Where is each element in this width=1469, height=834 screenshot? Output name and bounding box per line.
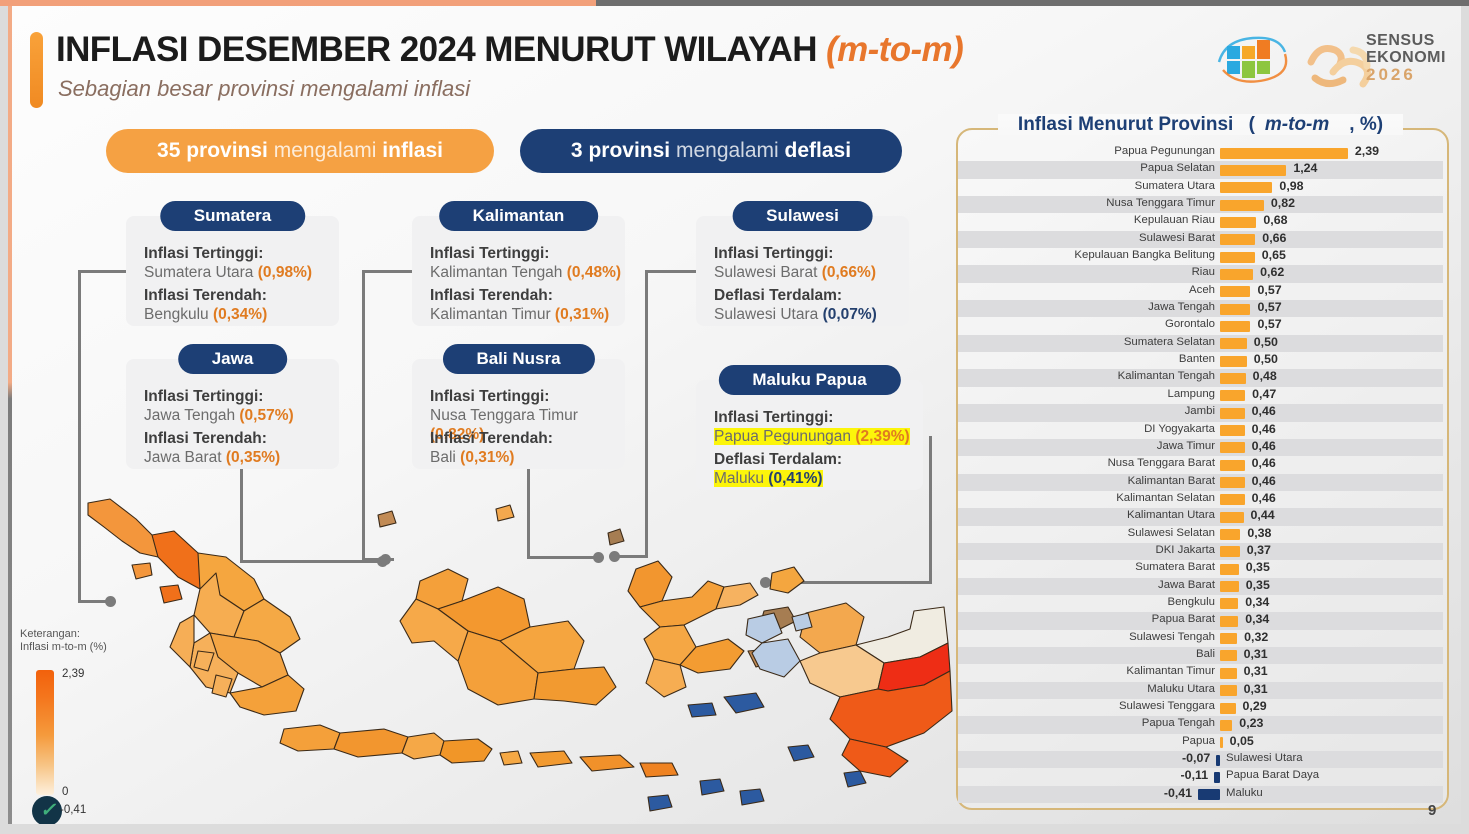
map-artwork (48, 461, 953, 821)
chart-row: Kalimantan Timur0,31 (958, 664, 1443, 681)
sulawesi-bottom-label: Deflasi Terdalam: (714, 286, 877, 305)
chart-bar-positive (1220, 581, 1239, 592)
deflasi-dim: mengalami (676, 139, 785, 162)
chart-row: Kalimantan Utara0,44 (958, 508, 1443, 525)
chart-value-label: 0,29 (1243, 699, 1267, 713)
sumatera-bottom-value: (0,34%) (213, 306, 267, 323)
region-card-bali-nusra: Bali Nusra Inflasi Tertinggi: Nusa Tengg… (412, 359, 625, 469)
chart-value-label: 0,38 (1247, 526, 1271, 540)
chart-category-label: Nusa Tenggara Timur (1106, 197, 1215, 209)
badge-provinsi-deflasi: 3 provinsi mengalami deflasi (520, 129, 902, 173)
deflasi-end: deflasi (785, 139, 852, 162)
chart-bar-positive (1220, 650, 1237, 661)
chart-category-label: Sulawesi Barat (1139, 232, 1215, 244)
chart-row: Sumatera Utara0,98 (958, 179, 1443, 196)
sulawesi-top-value: (0,66%) (822, 264, 876, 281)
chart-row: Kalimantan Barat0,46 (958, 474, 1443, 491)
sumatera-top-value: (0,98%) (258, 264, 312, 281)
legend-caption-line1: Keterangan: (20, 628, 140, 641)
page-title: INFLASI DESEMBER 2024 MENURUT WILAYAH (m… (56, 30, 956, 70)
chart-value-label: 0,65 (1262, 248, 1286, 262)
chart-category-label: Papua Tengah (1142, 717, 1215, 729)
region-title-jawa: Jawa (178, 344, 288, 374)
chart-value-label: 0,47 (1252, 387, 1276, 401)
region-card-sumatera: Sumatera Inflasi Tertinggi: Sumatera Uta… (126, 216, 339, 326)
chart-category-label: Sumatera Barat (1135, 561, 1215, 573)
chart-value-label: 0,57 (1257, 317, 1281, 331)
chart-category-label: Gorontalo (1165, 318, 1215, 330)
chart-value-label: 0,46 (1252, 474, 1276, 488)
chart-bar-positive (1220, 633, 1237, 644)
chart-value-label: 0,34 (1245, 595, 1269, 609)
chart-category-label: Sulawesi Tenggara (1119, 700, 1215, 712)
chart-row: DI Yogyakarta0,46 (958, 422, 1443, 439)
chart-value-label: 0,48 (1253, 369, 1277, 383)
chart-bar-positive (1220, 564, 1239, 575)
logo-line-2: EKONOMI (1366, 49, 1446, 66)
chart-value-label: 0,31 (1244, 682, 1268, 696)
kalimantan-bottom-label: Inflasi Terendah: (430, 286, 609, 305)
chart-row: Nusa Tenggara Timur0,82 (958, 196, 1443, 213)
chart-value-label: 1,24 (1293, 161, 1317, 175)
balinusra-top-label: Inflasi Tertinggi: (430, 387, 625, 406)
chart-category-label: DKI Jakarta (1155, 544, 1215, 556)
chart-value-label: 0,46 (1252, 491, 1276, 505)
region-title-malukupapua: Maluku Papua (718, 365, 900, 395)
chart-category-label: Papua Barat (1152, 613, 1215, 625)
chart-bar-positive (1220, 720, 1232, 731)
legend-zero-value: 0 (62, 786, 68, 798)
chart-value-label: 2,39 (1355, 144, 1379, 158)
inflasi-end: inflasi (382, 139, 443, 162)
chart-row: Kalimantan Tengah0,48 (958, 369, 1443, 386)
chart-bar-positive (1220, 737, 1223, 748)
chart-bar-positive (1220, 390, 1245, 401)
chart-row: Sumatera Barat0,35 (958, 560, 1443, 577)
chart-category-label: DI Yogyakarta (1144, 423, 1215, 435)
chart-bar-positive (1220, 460, 1245, 471)
jawa-bottom-label: Inflasi Terendah: (144, 429, 280, 448)
chart-bar-positive (1220, 494, 1245, 505)
chart-value-label: -0,41 (1144, 786, 1192, 800)
title-accent-bar (30, 32, 43, 108)
chart-value-label: 0,46 (1252, 439, 1276, 453)
region-card-sulawesi: Sulawesi Inflasi Tertinggi: Sulawesi Bar… (696, 216, 909, 326)
chart-value-label: 0,31 (1244, 647, 1268, 661)
chart-value-label: -0,07 (1162, 751, 1210, 765)
region-title-balinusra: Bali Nusra (442, 344, 594, 374)
chart-category-label: Bengkulu (1168, 596, 1216, 608)
connector-kalimantan-h1 (362, 270, 412, 273)
chart-category-label: Nusa Tenggara Barat (1108, 457, 1215, 469)
badge-provinsi-inflasi: 35 provinsi mengalami inflasi (106, 129, 494, 173)
chart-row: Bengkulu0,34 (958, 595, 1443, 612)
region-title-sulawesi: Sulawesi (732, 201, 873, 231)
chart-value-label: 0,66 (1262, 231, 1286, 245)
chart-bar-positive (1220, 425, 1245, 436)
chart-row: Bali0,31 (958, 647, 1443, 664)
chart-bar-positive (1220, 685, 1237, 696)
sumatera-top-label: Inflasi Tertinggi: (144, 244, 312, 263)
jawa-top-value: (0,57%) (239, 407, 293, 424)
chart-row: Jambi0,46 (958, 404, 1443, 421)
chart-row: Sulawesi Barat0,66 (958, 231, 1443, 248)
chart-bar-positive (1220, 165, 1286, 176)
chart-category-label: Maluku Utara (1147, 683, 1215, 695)
connector-sulawesi-h1 (645, 270, 696, 273)
chart-value-label: 0,37 (1247, 543, 1271, 557)
kalimantan-top-value: (0,48%) (567, 264, 621, 281)
chart-category-label: Jambi (1185, 405, 1215, 417)
chart-value-label: 0,46 (1252, 456, 1276, 470)
chart-category-label: Maluku (1226, 787, 1263, 799)
chart-category-label: Jawa Timur (1157, 440, 1215, 452)
sumatera-bottom-label: Inflasi Terendah: (144, 286, 267, 305)
chart-bar-positive (1220, 304, 1250, 315)
chart-row: Lampung0,47 (958, 387, 1443, 404)
sulawesi-top-label: Inflasi Tertinggi: (714, 244, 876, 263)
chart-row: Papua0,05 (958, 734, 1443, 751)
slide-canvas: INFLASI DESEMBER 2024 MENURUT WILAYAH (m… (8, 6, 1461, 824)
chart-category-label: Kalimantan Selatan (1116, 492, 1215, 504)
chart-bar-positive (1220, 148, 1348, 159)
logo-line-1: SENSUS (1366, 32, 1446, 49)
legend-max-value: 2,39 (62, 668, 84, 680)
chart-category-label: Sumatera Selatan (1124, 336, 1215, 348)
chart-category-label: Papua Pegunungan (1114, 145, 1215, 157)
chart-row: Sumatera Selatan0,50 (958, 335, 1443, 352)
chart-row: Aceh0,57 (958, 283, 1443, 300)
slide-left-edge (8, 6, 12, 824)
deflasi-mid: provinsi (583, 139, 676, 162)
chart-rows: Papua Pegunungan2,39Papua Selatan1,24Sum… (958, 144, 1443, 803)
chart-category-label: Sulawesi Selatan (1128, 527, 1215, 539)
chart-bar-positive (1220, 373, 1246, 384)
inflasi-count: 35 (157, 139, 180, 162)
chart-category-label: Kalimantan Timur (1126, 665, 1215, 677)
legend-caption-line2: Inflasi m-to-m (%) (20, 641, 140, 654)
legend-min-value: -0,41 (60, 804, 86, 816)
jawa-top-label: Inflasi Tertinggi: (144, 387, 294, 406)
chart-bar-negative (1216, 755, 1220, 766)
chart-value-label: -0,11 (1160, 768, 1208, 782)
chart-value-label: 0,35 (1246, 560, 1270, 574)
chart-category-label: Sumatera Utara (1135, 180, 1215, 192)
chart-row: Kepulauan Riau0,68 (958, 213, 1443, 230)
chart-bar-positive (1220, 286, 1250, 297)
chart-bar-positive (1220, 269, 1253, 280)
kalimantan-bottom-name: Kalimantan Timur (430, 306, 551, 323)
chart-bar-positive (1220, 512, 1244, 523)
chart-row: Sulawesi Tenggara0,29 (958, 699, 1443, 716)
chart-bar-positive (1220, 529, 1240, 540)
chart-value-label: 0,50 (1254, 335, 1278, 349)
chart-category-label: Jawa Barat (1158, 579, 1215, 591)
chart-title-italic: m-to-m (1255, 114, 1339, 135)
chart-bar-positive (1220, 442, 1245, 453)
chart-category-label: Bali (1196, 648, 1215, 660)
chart-value-label: 0,05 (1230, 734, 1254, 748)
chart-row: Maluku Utara0,31 (958, 682, 1443, 699)
chart-title-unit: , %) (1339, 114, 1393, 135)
chart-value-label: 0,46 (1252, 404, 1276, 418)
chart-value-label: 0,35 (1246, 578, 1270, 592)
chart-category-label: Kepulauan Riau (1134, 214, 1215, 226)
chart-value-label: 0,44 (1251, 508, 1275, 522)
chart-row: -0,11Papua Barat Daya (958, 768, 1443, 785)
chart-value-label: 0,57 (1257, 300, 1281, 314)
chart-category-label: Kalimantan Tengah (1118, 370, 1215, 382)
malukupapua-top-label: Inflasi Tertinggi: (714, 408, 910, 427)
malukupapua-top-name: Papua Pegunungan (714, 428, 851, 445)
chart-value-label: 0,62 (1260, 265, 1284, 279)
chart-row: -0,41Maluku (958, 786, 1443, 803)
balinusra-bottom-label: Inflasi Terendah: (430, 429, 553, 448)
indonesia-choropleth-map (48, 461, 953, 821)
chart-row: DKI Jakarta0,37 (958, 543, 1443, 560)
chart-bar-positive (1220, 356, 1247, 367)
chart-row: Sulawesi Tengah0,32 (958, 630, 1443, 647)
chart-value-label: 0,98 (1279, 179, 1303, 193)
chart-category-label: Kalimantan Barat (1128, 475, 1215, 487)
legend-negative-swatch: ✓ (32, 796, 62, 824)
chart-value-label: 0,34 (1245, 612, 1269, 626)
chart-row: Papua Selatan1,24 (958, 161, 1443, 178)
chart-category-label: Kalimantan Utara (1127, 509, 1215, 521)
chart-category-label: Jawa Tengah (1148, 301, 1215, 313)
chart-title-plain: Inflasi Menurut Provinsi (1008, 114, 1243, 135)
balinusra-top-name: Nusa Tenggara Timur (430, 407, 578, 424)
chart-row: -0,07Sulawesi Utara (958, 751, 1443, 768)
chart-category-label: Papua Barat Daya (1226, 769, 1319, 781)
jawa-top-name: Jawa Tengah (144, 407, 235, 424)
chart-bar-negative (1214, 772, 1220, 783)
title-main: INFLASI DESEMBER 2024 MENURUT WILAYAH (56, 30, 817, 69)
chart-bar-positive (1220, 703, 1236, 714)
chart-category-label: Banten (1179, 353, 1215, 365)
chart-row: Sulawesi Selatan0,38 (958, 526, 1443, 543)
chart-row: Papua Pegunungan2,39 (958, 144, 1443, 161)
region-title-sumatera: Sumatera (160, 201, 305, 231)
chart-row: Papua Barat0,34 (958, 612, 1443, 629)
chart-bar-positive (1220, 668, 1237, 679)
chart-value-label: 0,32 (1244, 630, 1268, 644)
sumatera-bottom-name: Bengkulu (144, 306, 209, 323)
chart-bar-positive (1220, 616, 1238, 627)
chart-bar-positive (1220, 321, 1250, 332)
kalimantan-top-label: Inflasi Tertinggi: (430, 244, 621, 263)
region-title-kalimantan: Kalimantan (439, 201, 599, 231)
connector-sumatera-h1 (78, 270, 126, 273)
chart-category-label: Riau (1192, 266, 1215, 278)
chart-bar-negative (1198, 789, 1220, 800)
region-card-kalimantan: Kalimantan Inflasi Tertinggi: Kalimantan… (412, 216, 625, 326)
chart-category-label: Sulawesi Tengah (1129, 631, 1215, 643)
region-card-jawa: Jawa Inflasi Tertinggi: Jawa Tengah (0,5… (126, 359, 339, 469)
sumatera-top-name: Sumatera Utara (144, 264, 253, 281)
chart-bar-positive (1220, 408, 1245, 419)
inflasi-mid: provinsi (180, 139, 273, 162)
chart-title: Inflasi Menurut Provinsi (m-to-m, %) (956, 114, 1445, 136)
page-subtitle: Sebagian besar provinsi mengalami inflas… (58, 76, 958, 102)
legend-gradient-bar (36, 670, 54, 795)
sulawesi-bottom-name: Sulawesi Utara (714, 306, 818, 323)
chart-row: Riau0,62 (958, 265, 1443, 282)
chart-bar-positive (1220, 182, 1272, 193)
chart-row: Jawa Timur0,46 (958, 439, 1443, 456)
chart-row: Kalimantan Selatan0,46 (958, 491, 1443, 508)
chart-bar-positive (1220, 338, 1247, 349)
chart-value-label: 0,68 (1263, 213, 1287, 227)
sulawesi-bottom-value: (0,07%) (823, 306, 877, 323)
kalimantan-top-name: Kalimantan Tengah (430, 264, 562, 281)
chart-value-label: 0,57 (1257, 283, 1281, 297)
logo-year: 2026 (1366, 66, 1446, 83)
deflasi-count: 3 (571, 139, 583, 162)
chart-row: Kepulauan Bangka Belitung0,65 (958, 248, 1443, 265)
chart-bar-positive (1220, 217, 1256, 228)
chart-row: Jawa Tengah0,57 (958, 300, 1443, 317)
kalimantan-bottom-value: (0,31%) (555, 306, 609, 323)
chart-value-label: 0,46 (1252, 422, 1276, 436)
chart-bar-positive (1220, 477, 1245, 488)
chart-category-label: Kepulauan Bangka Belitung (1074, 249, 1215, 261)
sulawesi-top-name: Sulawesi Barat (714, 264, 817, 281)
chart-row: Nusa Tenggara Barat0,46 (958, 456, 1443, 473)
chart-value-label: 0,50 (1254, 352, 1278, 366)
chart-bar-positive (1220, 234, 1255, 245)
sensus-ekonomi-wordmark: SENSUS EKONOMI 2026 (1366, 32, 1446, 83)
chart-bar-positive (1220, 598, 1238, 609)
inflasi-dim: mengalami (274, 139, 383, 162)
chart-category-label: Lampung (1168, 388, 1216, 400)
chart-bar-positive (1220, 252, 1255, 263)
page-number: 9 (1428, 802, 1436, 819)
chart-category-label: Sulawesi Utara (1226, 752, 1303, 764)
map-legend: Keterangan: Inflasi m-to-m (%) 2,39 0 ✓ … (20, 628, 140, 654)
chart-row: Gorontalo0,57 (958, 317, 1443, 334)
chart-value-label: 0,82 (1271, 196, 1295, 210)
malukupapua-top-value: (2,39%) (855, 428, 909, 445)
title-mtm: (m-to-m) (826, 30, 963, 69)
chart-category-label: Papua Selatan (1140, 162, 1215, 174)
chart-row: Papua Tengah0,23 (958, 716, 1443, 733)
chart-row: Jawa Barat0,35 (958, 578, 1443, 595)
chart-row: Banten0,50 (958, 352, 1443, 369)
legend-swatch-glyph: ✓ (40, 799, 56, 822)
chart-bar-positive (1220, 200, 1264, 211)
chart-category-label: Aceh (1189, 284, 1215, 296)
chart-bar-positive (1220, 546, 1240, 557)
chart-value-label: 0,31 (1244, 664, 1268, 678)
chart-category-label: Papua (1182, 735, 1215, 747)
chart-value-label: 0,23 (1239, 716, 1263, 730)
